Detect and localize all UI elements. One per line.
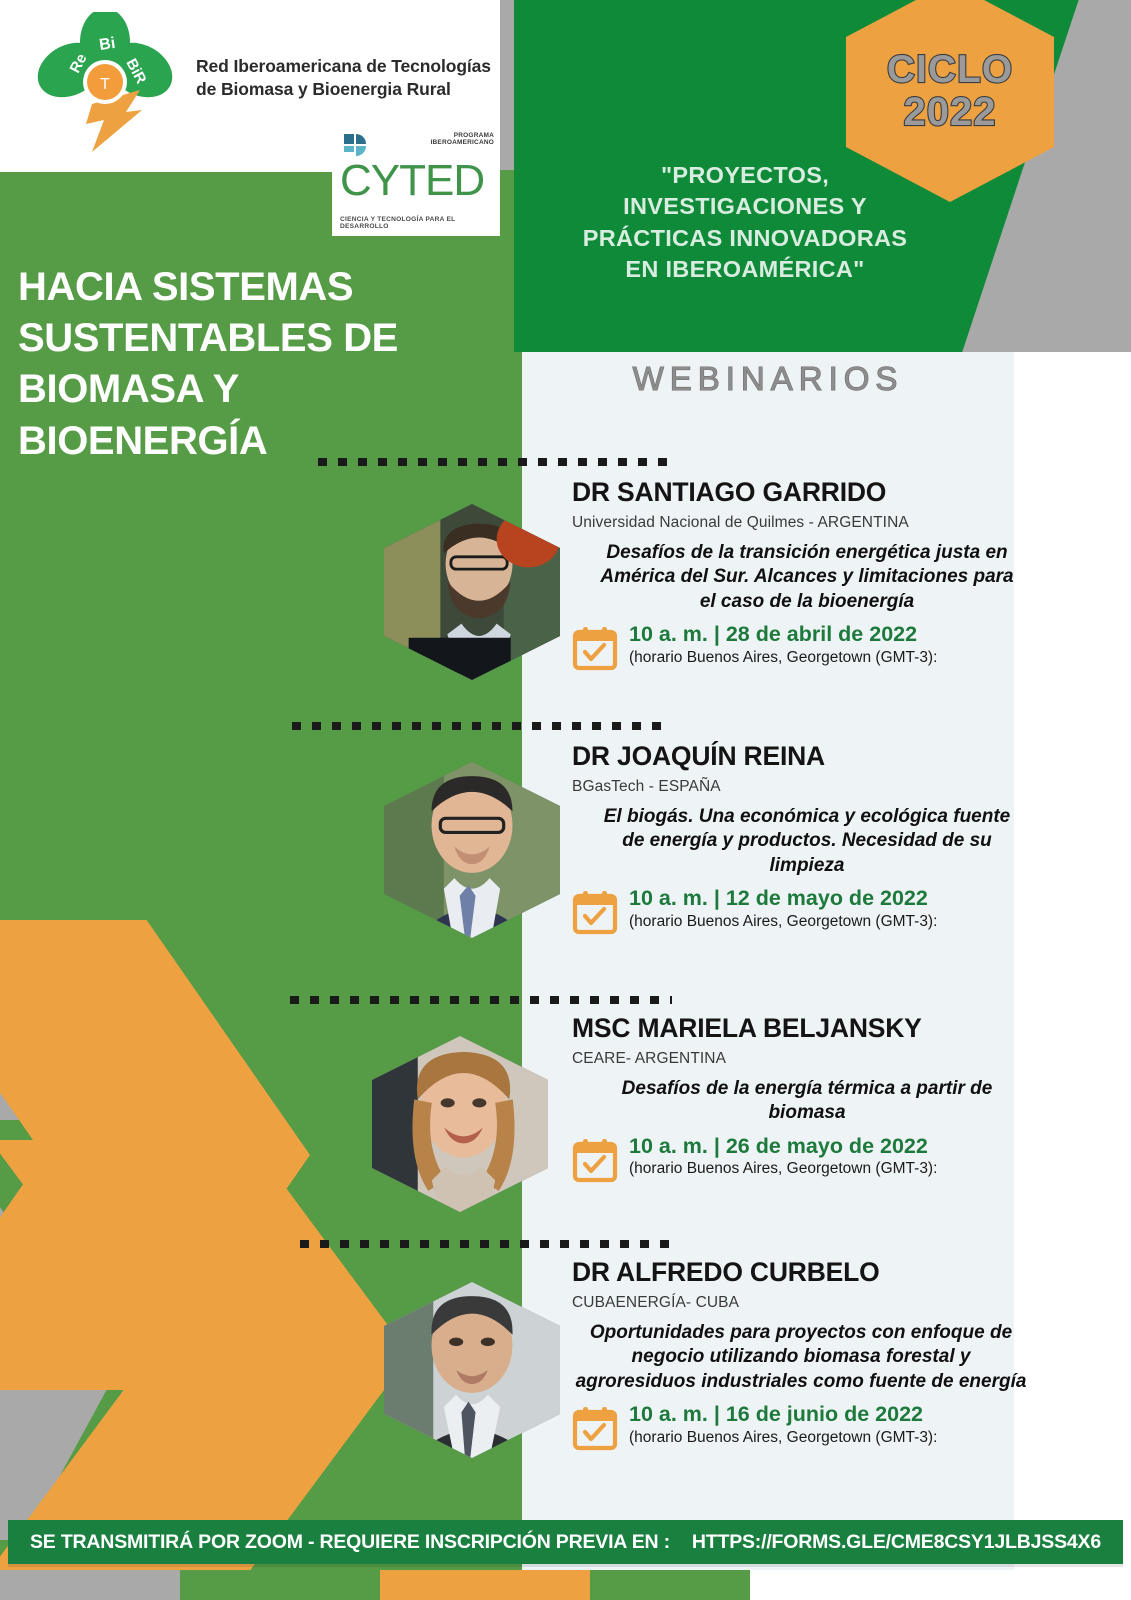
poster-root: T Re Bi BiR Red Iberoamericana de Tecnol… [0,0,1131,1600]
speaker-datetime-3: 10 a. m. | 26 de mayo de 2022 [629,1135,937,1159]
page-title-line3: BIOMASA Y [18,364,438,415]
decor-bottom-strip-green [180,1570,380,1600]
header-subtitle-line3: PRÁCTICAS INNOVADORAS [520,223,970,254]
speaker-name-3: MSC MARIELA BELJANSKY [572,1014,1042,1043]
calendar-check-icon [572,1405,618,1451]
speaker-timezone-1: (horario Buenos Aires, Georgetown (GMT-3… [629,649,937,667]
speaker-schedule-4: 10 a. m. | 16 de junio de 2022 (horario … [560,1403,1042,1451]
divider-dots-2 [292,722,670,730]
svg-text:Bi: Bi [98,35,116,54]
svg-text:T: T [100,76,110,93]
calendar-check-icon [572,1137,618,1183]
speaker-talk-line1-2: El biogás. Una económica y ecológica fue… [572,805,1042,829]
speaker-talk-title-3: Desafíos de la energía térmica a partir … [572,1077,1042,1126]
ciclo-badge-line1: CICLO [887,49,1013,91]
speaker-card-2: DR JOAQUÍN REINA BGasTech - ESPAÑA El bi… [572,742,1042,935]
cyted-pinwheel-icon [342,132,370,158]
cyted-wordmark: CYTED [340,156,484,206]
cyted-tagline: CIENCIA Y TECNOLOGÍA PARA EL DESARROLLO [340,216,500,230]
decor-bottom-strip-white [750,1570,1131,1600]
speaker-datetime-4: 10 a. m. | 16 de junio de 2022 [629,1403,937,1427]
speaker-talk-line3-4: agroresiduos industriales como fuente de… [560,1370,1042,1394]
speaker-name-4: DR ALFREDO CURBELO [560,1258,1042,1287]
speaker-talk-title-4: Oportunidades para proyectos con enfoque… [560,1321,1042,1394]
speaker-schedule-3: 10 a. m. | 26 de mayo de 2022 (horario B… [572,1135,1042,1183]
speaker-talk-line3-1: el caso de la bioenergía [572,590,1042,614]
decor-bottom-strip-orange [380,1570,590,1600]
speaker-card-1: DR SANTIAGO GARRIDO Universidad Nacional… [572,478,1042,671]
speaker-talk-line1-3: Desafíos de la energía térmica a partir … [572,1077,1042,1101]
speaker-talk-line2-3: biomasa [572,1101,1042,1125]
cyted-program-label: PROGRAMA IBEROAMERICANO [431,132,494,147]
footer-registration-link[interactable]: HTTPS://FORMS.GLE/CME8CSY1JLBJSS4X6 [692,1531,1101,1554]
speaker-card-4: DR ALFREDO CURBELO CUBAENERGÍA- CUBA Opo… [560,1258,1042,1451]
section-heading-webinarios: WEBINARIOS [522,360,1014,398]
header-subtitle-line4: EN IBEROAMÉRICA" [520,254,970,285]
calendar-check-icon [572,625,618,671]
speaker-talk-title-1: Desafíos de la transición energética jus… [572,541,1042,614]
speaker-talk-line3-2: limpieza [572,854,1042,878]
speaker-affiliation-2: BGasTech - ESPAÑA [572,778,1042,796]
speaker-schedule-2: 10 a. m. | 12 de mayo de 2022 (horario B… [572,887,1042,935]
speaker-talk-line1-4: Oportunidades para proyectos con enfoque… [560,1321,1042,1345]
cyted-logo-block: PROGRAMA IBEROAMERICANO CYTED CIENCIA Y … [332,128,500,236]
page-title-line1: HACIA SISTEMAS [18,262,438,313]
decor-bottom-strip-gray [0,1570,180,1600]
rebibir-leaf-icon: T Re Bi BiR [30,12,180,157]
cyted-program-line1: PROGRAMA [431,132,494,139]
speaker-card-3: MSC MARIELA BELJANSKY CEARE- ARGENTINA D… [572,1014,1042,1183]
speaker-timezone-2: (horario Buenos Aires, Georgetown (GMT-3… [629,913,937,931]
speaker-datetime-1: 10 a. m. | 28 de abril de 2022 [629,623,937,647]
calendar-check-icon [572,889,618,935]
speaker-affiliation-4: CUBAENERGÍA- CUBA [560,1294,1042,1312]
speaker-talk-line1-1: Desafíos de la transición energética jus… [572,541,1042,565]
speaker-schedule-1: 10 a. m. | 28 de abril de 2022 (horario … [572,623,1042,671]
footer-notice-text: SE TRANSMITIRÁ POR ZOOM - REQUIERE INSCR… [30,1531,670,1554]
speaker-talk-line2-2: de energía y productos. Necesidad de su [572,829,1042,853]
rebibir-org-name-line1: Red Iberoamericana de Tecnologías [196,55,496,78]
page-title: HACIA SISTEMAS SUSTENTABLES DE BIOMASA Y… [18,262,438,467]
footer-registration-bar: SE TRANSMITIRÁ POR ZOOM - REQUIERE INSCR… [8,1520,1123,1564]
divider-dots-3 [290,996,672,1004]
speaker-talk-line2-4: negocio utilizando biomasa forestal y [560,1345,1042,1369]
speaker-timezone-3: (horario Buenos Aires, Georgetown (GMT-3… [629,1160,937,1178]
header-subtitle: "PROYECTOS, INVESTIGACIONES Y PRÁCTICAS … [520,160,970,285]
divider-dots-4 [300,1240,670,1248]
speaker-affiliation-1: Universidad Nacional de Quilmes - ARGENT… [572,514,1042,532]
header-subtitle-line2: INVESTIGACIONES Y [520,191,970,222]
speaker-name-1: DR SANTIAGO GARRIDO [572,478,1042,507]
speaker-talk-line2-1: América del Sur. Alcances y limitaciones… [572,565,1042,589]
speaker-datetime-2: 10 a. m. | 12 de mayo de 2022 [629,887,937,911]
speaker-timezone-4: (horario Buenos Aires, Georgetown (GMT-3… [629,1429,937,1447]
page-title-line2: SUSTENTABLES DE [18,313,438,364]
cyted-program-line2: IBEROAMERICANO [431,139,494,146]
speaker-talk-title-2: El biogás. Una económica y ecológica fue… [572,805,1042,878]
divider-dots-1 [318,458,670,466]
speaker-name-2: DR JOAQUÍN REINA [572,742,1042,771]
rebibir-org-name: Red Iberoamericana de Tecnologías de Bio… [196,55,496,102]
speaker-affiliation-3: CEARE- ARGENTINA [572,1050,1042,1068]
decor-bottom-strip-green-2 [590,1570,750,1600]
ciclo-badge-line2: 2022 [904,91,997,134]
rebibir-org-name-line2: de Biomasa y Bioenergia Rural [196,78,496,101]
